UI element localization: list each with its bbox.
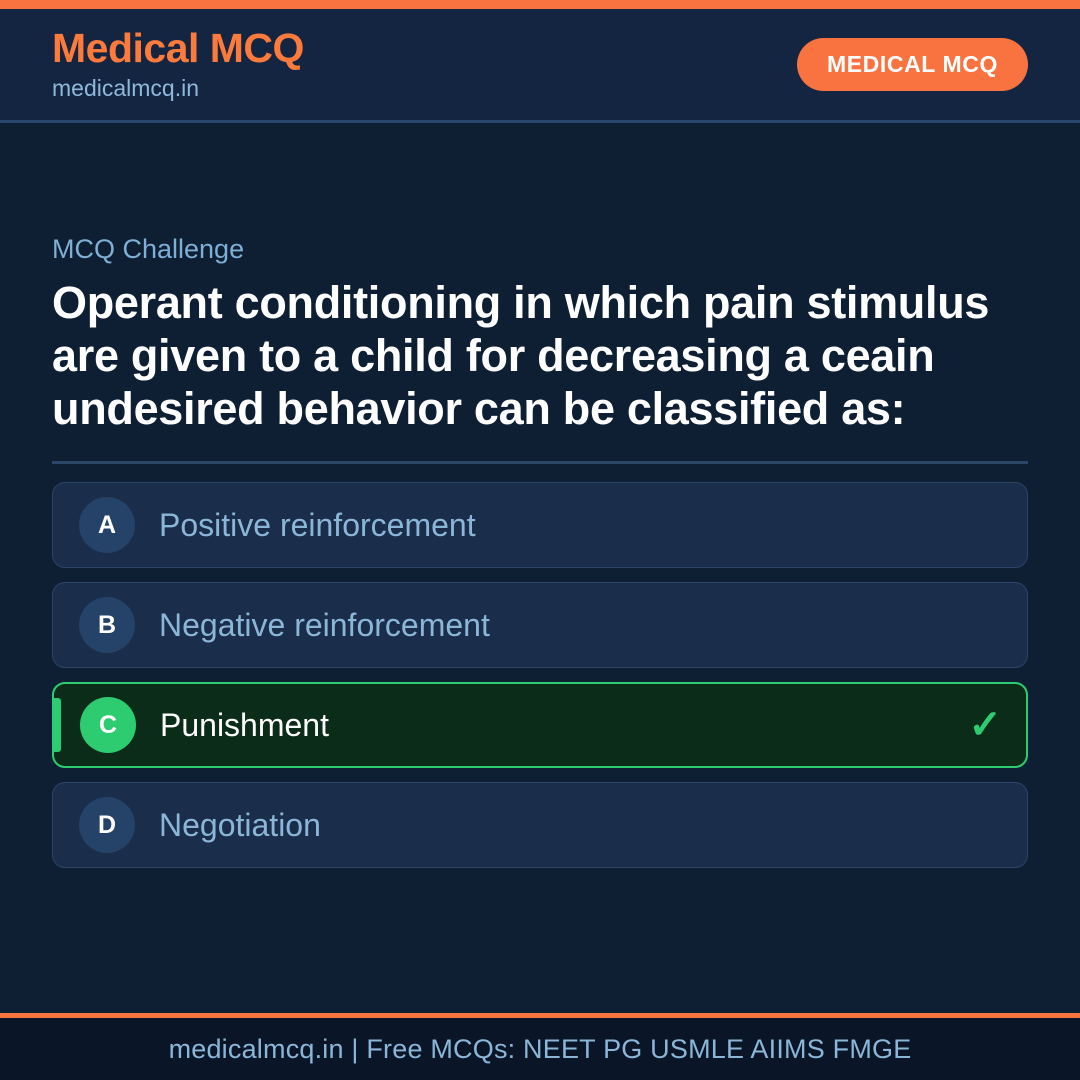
option-letter-badge: A [79,497,135,553]
brand-block: Medical MCQ medicalmcq.in [52,26,304,102]
option-label: Positive reinforcement [159,506,1003,544]
option-b[interactable]: BNegative reinforcement [52,582,1028,668]
question-text: Operant conditioning in which pain stimu… [52,277,1028,435]
option-a[interactable]: APositive reinforcement [52,482,1028,568]
option-letter-badge: C [80,697,136,753]
brand-title: Medical MCQ [52,26,304,70]
option-letter-badge: D [79,797,135,853]
option-label: Negotiation [159,806,1003,844]
options-list: APositive reinforcementBNegative reinfor… [52,482,1028,868]
top-accent-bar [0,0,1080,9]
option-label: Negative reinforcement [159,606,1003,644]
option-c[interactable]: CPunishment✓ [52,682,1028,768]
option-d[interactable]: DNegotiation [52,782,1028,868]
correct-check-icon: ✓ [968,705,1002,745]
kicker-label: MCQ Challenge [52,233,1028,265]
footer-text: medicalmcq.in | Free MCQs: NEET PG USMLE… [169,1034,912,1065]
mcq-card: Medical MCQ medicalmcq.in MEDICAL MCQ MC… [0,0,1080,1080]
option-letter-badge: B [79,597,135,653]
section-divider [52,461,1028,464]
header-badge: MEDICAL MCQ [797,38,1028,91]
site-footer: medicalmcq.in | Free MCQs: NEET PG USMLE… [0,1013,1080,1080]
brand-subtitle: medicalmcq.in [52,74,304,103]
question-area: MCQ Challenge Operant conditioning in wh… [0,123,1080,1013]
site-header: Medical MCQ medicalmcq.in MEDICAL MCQ [0,9,1080,123]
option-label: Punishment [160,706,950,744]
